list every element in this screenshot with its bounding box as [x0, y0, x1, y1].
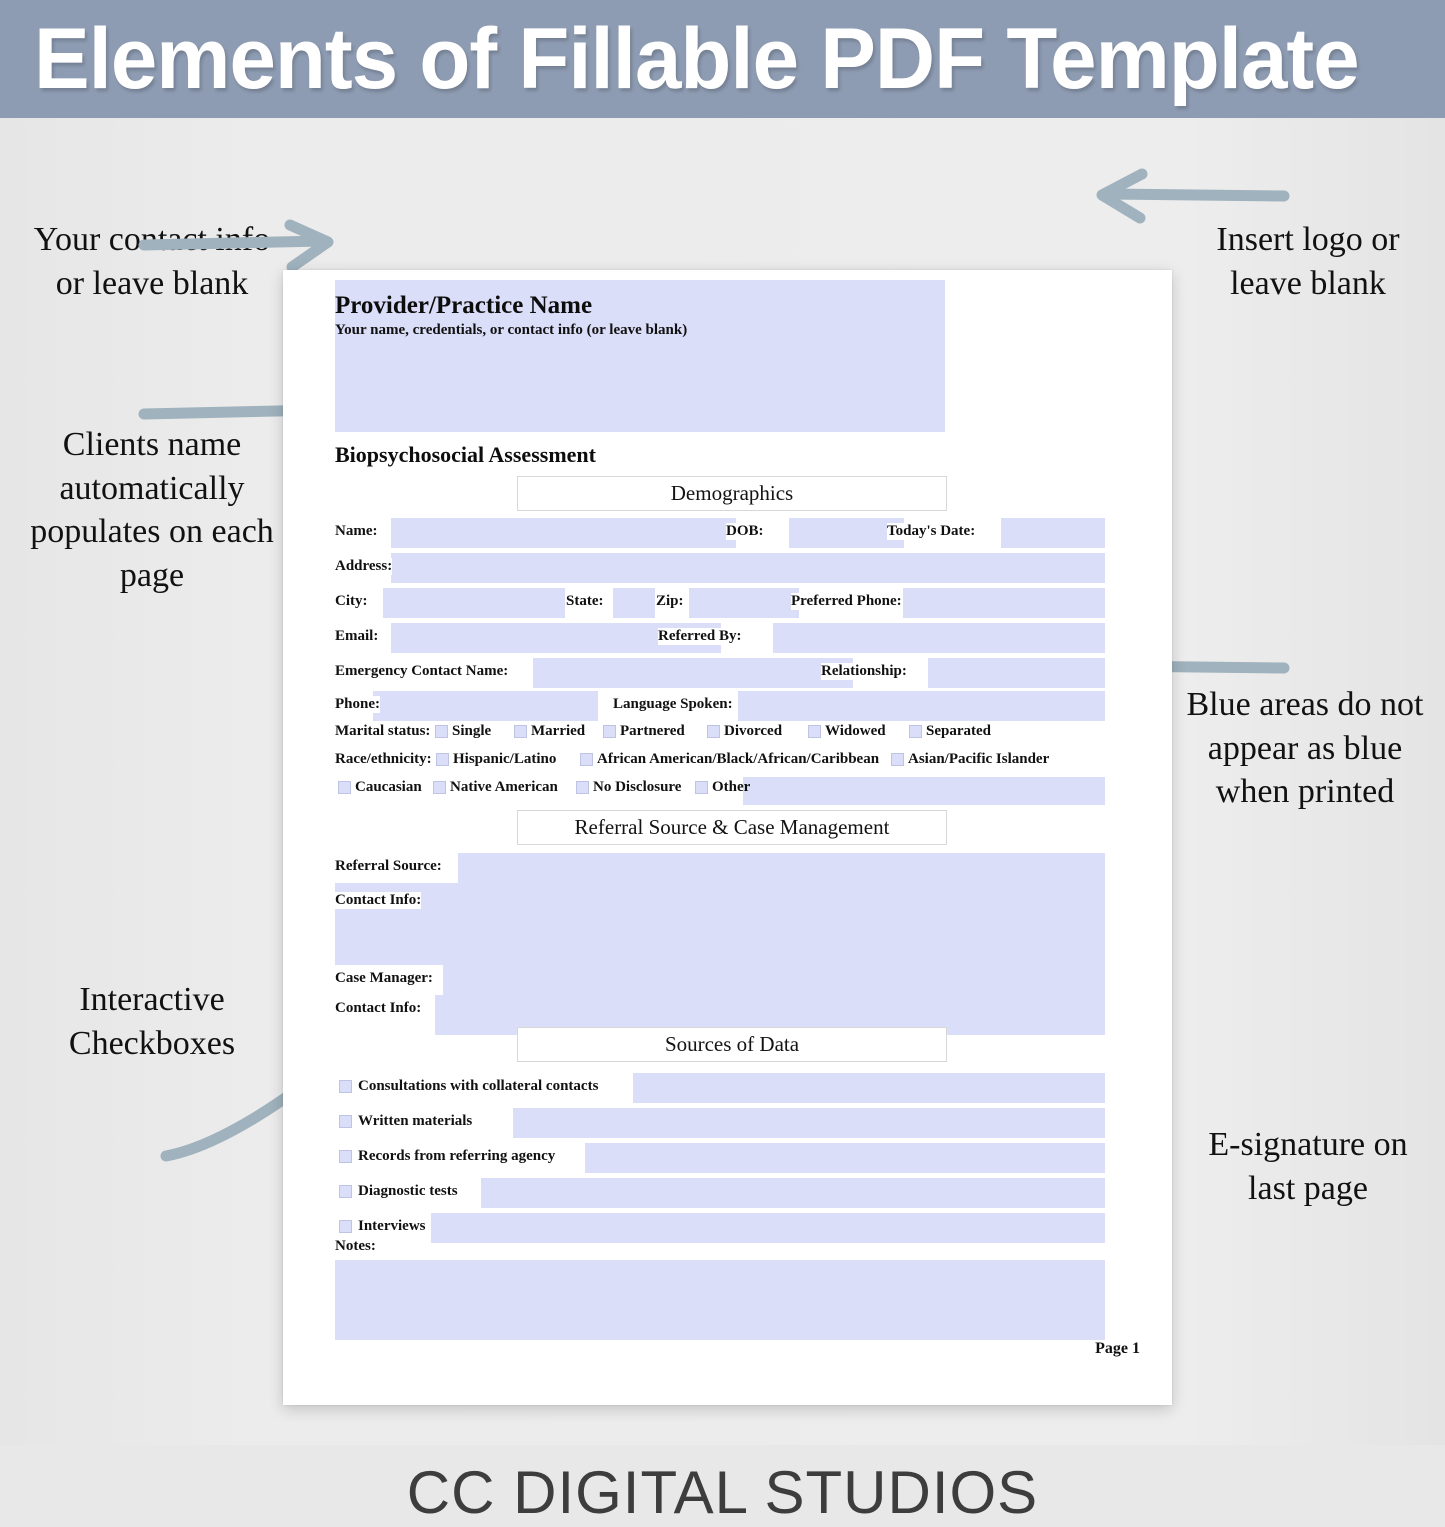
checkbox-hispanic-latino[interactable] — [436, 753, 449, 766]
label-emergency-contact-name: Emergency Contact Name: — [335, 663, 508, 680]
label-partnered: Partnered — [620, 723, 685, 740]
checkbox-written-materials[interactable] — [339, 1115, 352, 1128]
label-address: Address: — [335, 558, 392, 575]
notes-field[interactable] — [335, 1260, 1105, 1340]
arrow-to-logo-area — [1098, 168, 1288, 228]
label-caucasian: Caucasian — [355, 779, 422, 796]
checkbox-diagnostic-tests[interactable] — [339, 1185, 352, 1198]
checkbox-divorced[interactable] — [707, 725, 720, 738]
label-referral-contact-info: Contact Info: — [335, 892, 421, 909]
phone-field[interactable] — [373, 691, 598, 721]
checkbox-records-referring-agency[interactable] — [339, 1150, 352, 1163]
relationship-field[interactable] — [928, 658, 1105, 688]
label-interviews: Interviews — [358, 1218, 426, 1235]
checkbox-no-disclosure[interactable] — [576, 781, 589, 794]
section-header-sources: Sources of Data — [517, 1027, 947, 1062]
label-case-manager-contact-info: Contact Info: — [335, 1000, 421, 1017]
pdf-page: Provider/Practice Name Your name, creden… — [283, 270, 1172, 1405]
label-records-referring-agency: Records from referring agency — [358, 1148, 555, 1165]
label-native-american: Native American — [450, 779, 558, 796]
name-field[interactable] — [391, 518, 736, 548]
canvas-stage: Your contact info or leave blank Clients… — [0, 118, 1445, 1445]
label-state: State: — [566, 593, 604, 610]
label-asian-pacific-islander: Asian/Pacific Islander — [908, 751, 1049, 768]
source-records-field[interactable] — [585, 1143, 1105, 1173]
label-city: City: — [335, 593, 368, 610]
source-diagnostic-tests-field[interactable] — [481, 1178, 1105, 1208]
checkbox-separated[interactable] — [909, 725, 922, 738]
label-divorced: Divorced — [724, 723, 782, 740]
annotation-blue-areas: Blue areas do not appear as blue when pr… — [1176, 683, 1434, 814]
label-phone: Phone: — [335, 696, 380, 713]
emergency-contact-name-field[interactable] — [533, 658, 853, 688]
city-field[interactable] — [383, 588, 565, 618]
label-race-ethnicity: Race/ethnicity: — [335, 751, 432, 768]
checkbox-consultations-collateral[interactable] — [339, 1080, 352, 1093]
checkbox-single[interactable] — [435, 725, 448, 738]
label-preferred-phone: Preferred Phone: — [791, 593, 902, 610]
label-single: Single — [452, 723, 491, 740]
page-title: Elements of Fillable PDF Template — [34, 10, 1359, 109]
referral-contact-info-field[interactable] — [335, 883, 1105, 965]
source-interviews-field[interactable] — [431, 1213, 1105, 1243]
label-hispanic-latino: Hispanic/Latino — [453, 751, 556, 768]
referral-source-field[interactable] — [458, 853, 1105, 883]
checkbox-interviews[interactable] — [339, 1220, 352, 1233]
label-other: Other — [712, 779, 750, 796]
label-case-manager: Case Manager: — [335, 970, 433, 987]
label-consultations-collateral: Consultations with collateral contacts — [358, 1078, 598, 1095]
race-other-field[interactable] — [743, 777, 1105, 805]
referred-by-field[interactable] — [773, 623, 1105, 653]
label-married: Married — [531, 723, 585, 740]
label-todays-date: Today's Date: — [887, 523, 975, 540]
label-referred-by: Referred By: — [658, 628, 741, 645]
label-african-american: African American/Black/African/Caribbean — [597, 751, 879, 768]
label-separated: Separated — [926, 723, 991, 740]
page-number: Page 1 — [1095, 1340, 1140, 1358]
case-manager-field[interactable] — [443, 965, 1105, 995]
section-header-demographics: Demographics — [517, 476, 947, 511]
label-diagnostic-tests: Diagnostic tests — [358, 1183, 458, 1200]
label-marital-status: Marital status: — [335, 723, 430, 740]
address-field[interactable] — [391, 553, 1105, 583]
checkbox-partnered[interactable] — [603, 725, 616, 738]
label-no-disclosure: No Disclosure — [593, 779, 681, 796]
label-written-materials: Written materials — [358, 1113, 472, 1130]
zip-field[interactable] — [689, 588, 799, 618]
label-dob: DOB: — [726, 523, 764, 540]
label-referral-source: Referral Source: — [335, 858, 442, 875]
label-language-spoken: Language Spoken: — [613, 696, 733, 713]
provider-subtext: Your name, credentials, or contact info … — [335, 322, 687, 339]
label-widowed: Widowed — [825, 723, 886, 740]
label-name: Name: — [335, 523, 377, 540]
label-email: Email: — [335, 628, 378, 645]
checkbox-african-american[interactable] — [580, 753, 593, 766]
preferred-phone-field[interactable] — [903, 588, 1105, 618]
footer-brand: CC DIGITAL STUDIOS — [0, 1458, 1445, 1527]
provider-heading: Provider/Practice Name — [335, 292, 592, 320]
checkbox-native-american[interactable] — [433, 781, 446, 794]
state-field[interactable] — [613, 588, 655, 618]
checkbox-asian-pacific-islander[interactable] — [891, 753, 904, 766]
label-zip: Zip: — [656, 593, 684, 610]
form-title: Biopsychosocial Assessment — [335, 442, 596, 468]
checkbox-married[interactable] — [514, 725, 527, 738]
checkbox-other[interactable] — [695, 781, 708, 794]
header-banner: Elements of Fillable PDF Template — [0, 0, 1445, 118]
section-header-referral: Referral Source & Case Management — [517, 810, 947, 845]
annotation-insert-logo: Insert logo or leave blank — [1182, 218, 1434, 305]
language-spoken-field[interactable] — [738, 691, 1105, 721]
todays-date-field[interactable] — [1001, 518, 1105, 548]
source-consultations-field[interactable] — [633, 1073, 1105, 1103]
label-relationship: Relationship: — [821, 663, 907, 680]
checkbox-widowed[interactable] — [808, 725, 821, 738]
checkbox-caucasian[interactable] — [338, 781, 351, 794]
annotation-esignature: E-signature on last page — [1182, 1123, 1434, 1210]
source-written-materials-field[interactable] — [513, 1108, 1105, 1138]
label-notes: Notes: — [335, 1238, 376, 1255]
